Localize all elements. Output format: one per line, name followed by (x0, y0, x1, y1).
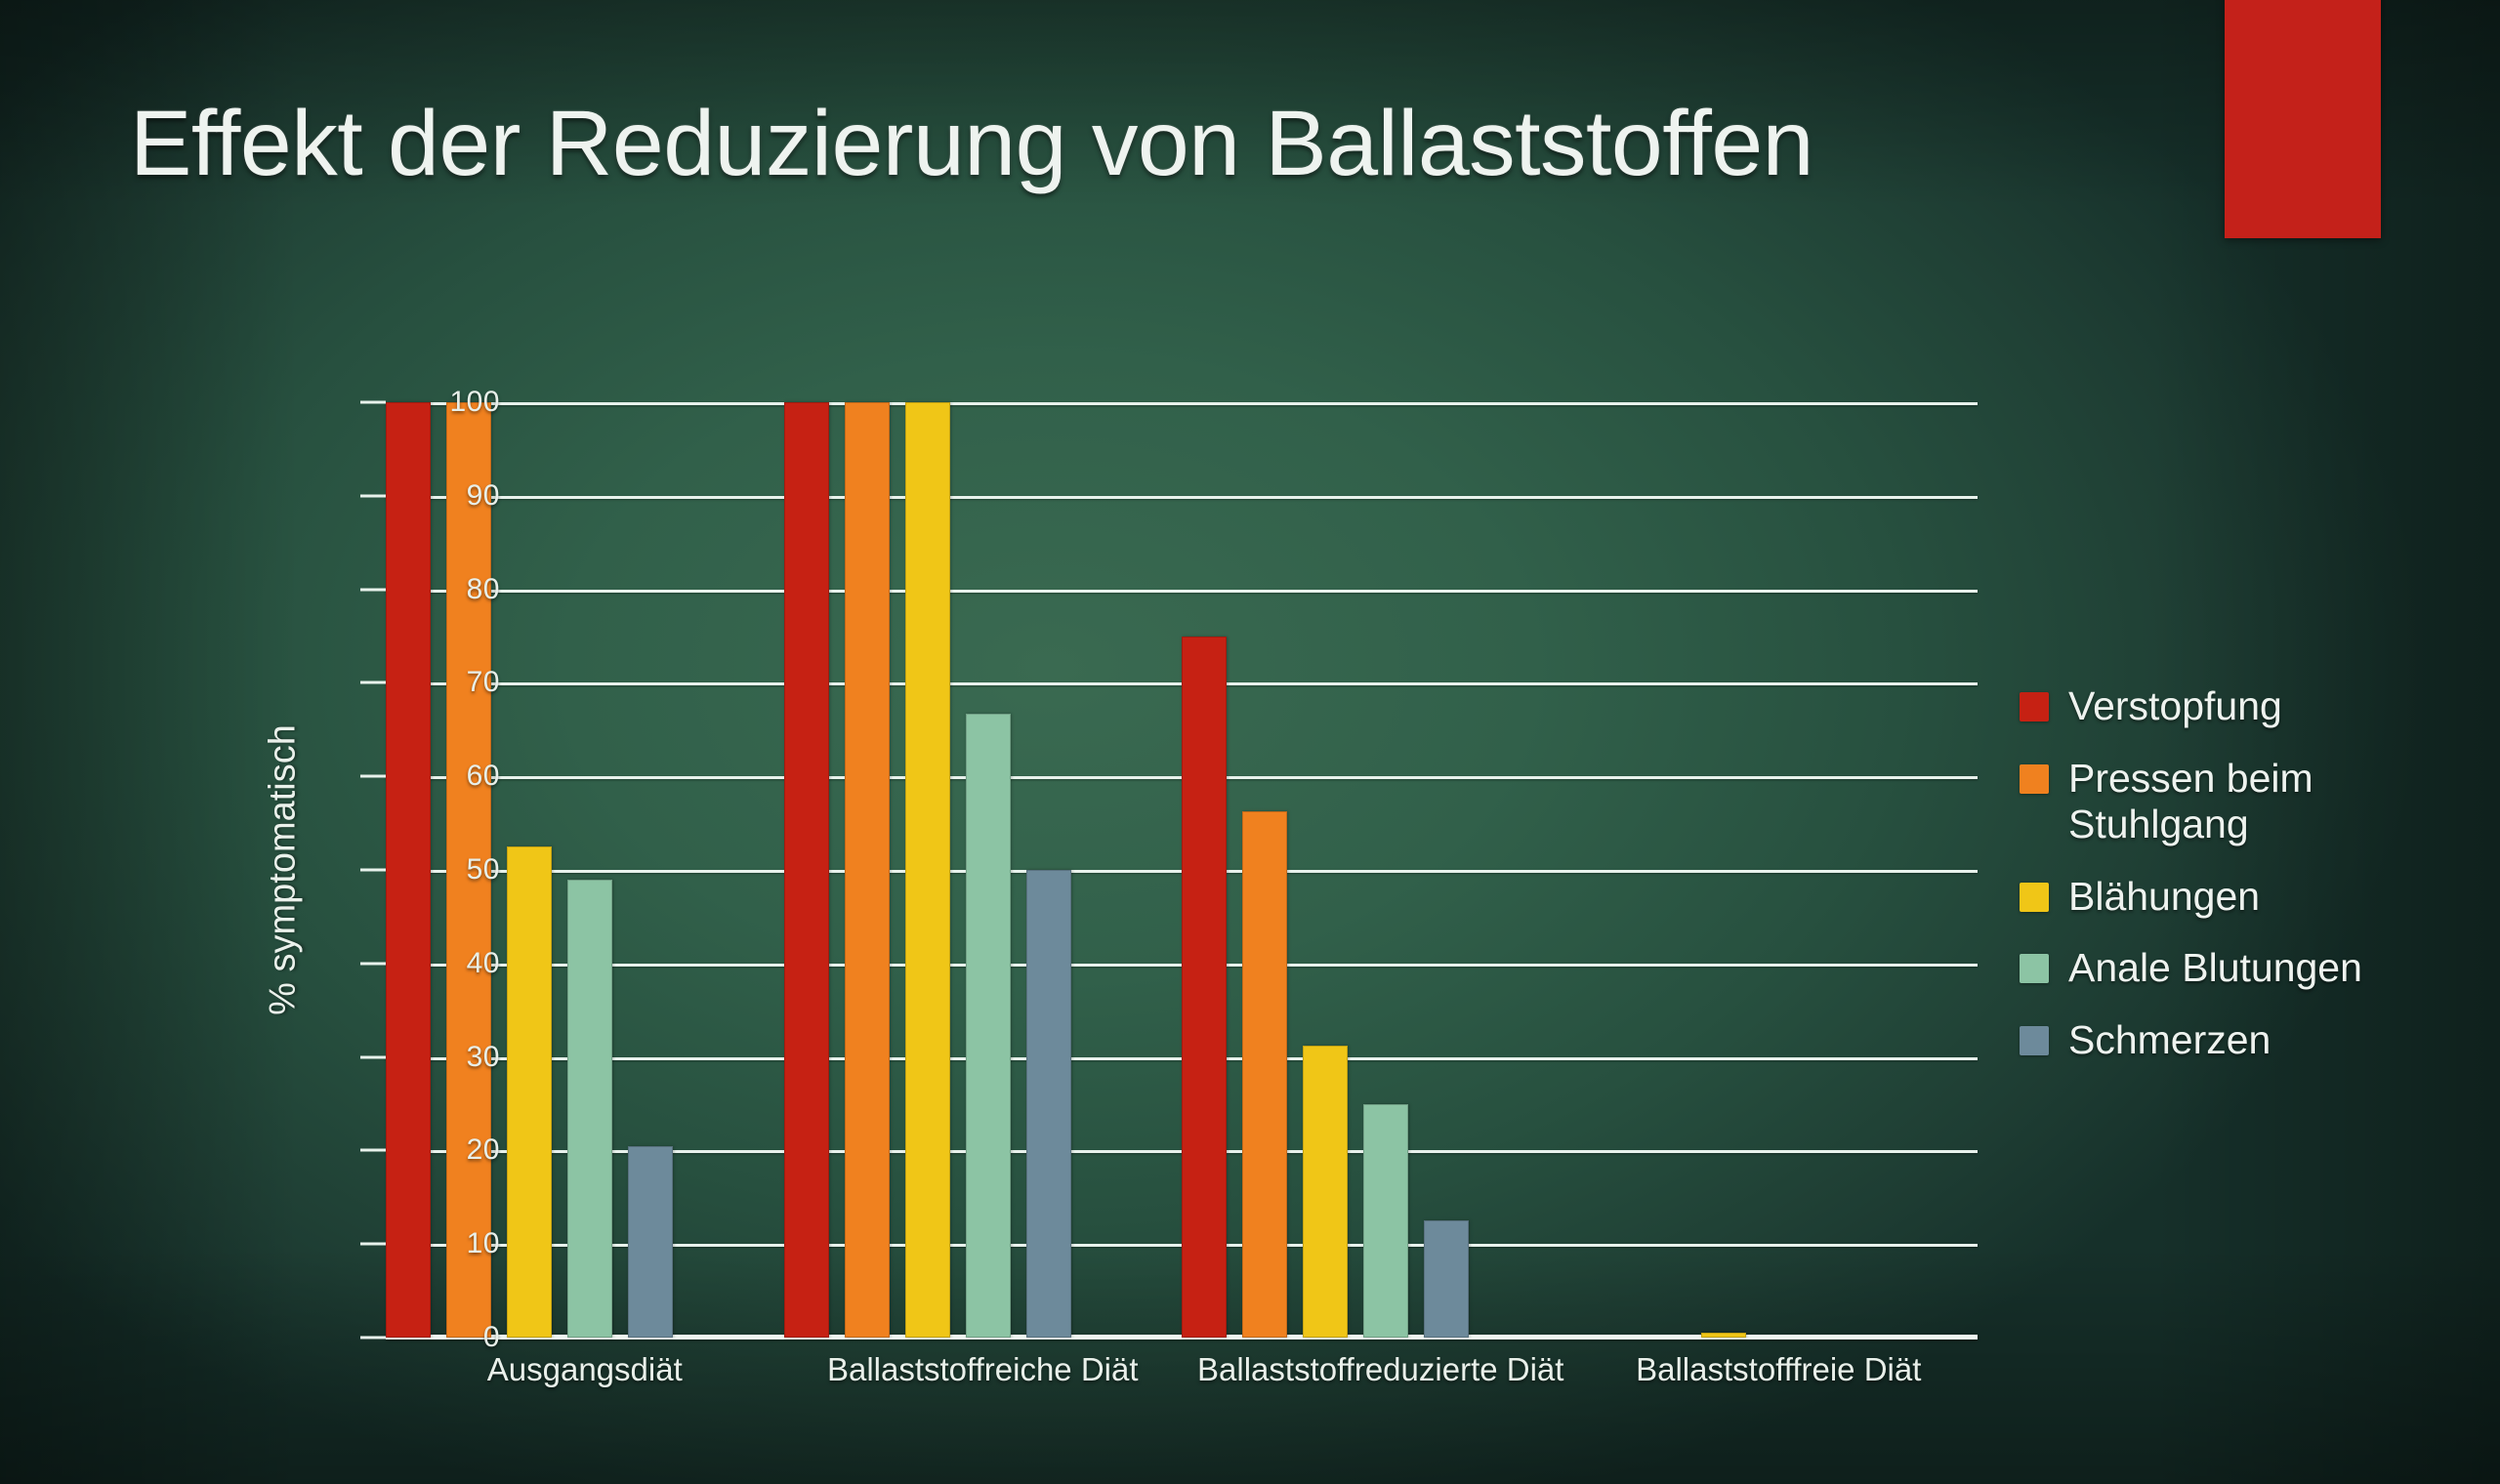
bar[interactable] (567, 880, 612, 1338)
bar[interactable] (1303, 1046, 1348, 1338)
slide-canvas: Effekt der Reduzierung von Ballaststoffe… (0, 0, 2500, 1484)
legend-label: Anale Blutungen (2068, 945, 2362, 992)
y-tick-label: 10 (383, 1227, 500, 1260)
legend-swatch-icon (2020, 1026, 2049, 1055)
legend-item[interactable]: Schmerzen (2020, 1017, 2479, 1064)
y-tick-mark (360, 1243, 386, 1246)
legend-item[interactable]: Anale Blutungen (2020, 945, 2479, 992)
y-tick-label: 50 (383, 853, 500, 886)
y-tick-mark (360, 681, 386, 684)
plot-area: % symptomatisch (386, 402, 1978, 1338)
x-tick-label: Ausgangsdiät (386, 1349, 784, 1466)
bar[interactable] (628, 1146, 673, 1338)
y-axis-title: % symptomatisch (263, 724, 305, 1015)
x-tick-label: Ballaststoffreduzierte Diät (1182, 1349, 1580, 1466)
legend-item[interactable]: Pressen beim Stuhlgang (2020, 756, 2479, 848)
bar-group-bars (1182, 402, 1469, 1338)
legend-label: Schmerzen (2068, 1017, 2271, 1064)
y-tick-mark (360, 401, 386, 404)
bar-group-bars (1580, 402, 1867, 1338)
y-tick-mark (360, 869, 386, 872)
bar-chart: % symptomatisch 0102030405060708090100 A… (0, 0, 2500, 1484)
bar-groups (386, 402, 1978, 1338)
y-tick-label: 90 (383, 479, 500, 513)
bar[interactable] (1242, 811, 1287, 1338)
y-tick-mark (360, 775, 386, 778)
y-tick-mark (360, 588, 386, 591)
y-tick-label: 80 (383, 573, 500, 606)
bar[interactable] (784, 402, 829, 1338)
accent-rectangle (2225, 0, 2381, 238)
bar-group (1182, 402, 1580, 1338)
legend-item[interactable]: Blähungen (2020, 874, 2479, 921)
legend-swatch-icon (2020, 692, 2049, 721)
legend-label: Blähungen (2068, 874, 2260, 921)
y-tick-label: 20 (383, 1134, 500, 1167)
bar[interactable] (1363, 1104, 1408, 1339)
y-tick-mark (360, 1149, 386, 1152)
legend-label: Verstopfung (2068, 683, 2282, 730)
bar-group (784, 402, 1183, 1338)
y-tick-mark (360, 1337, 386, 1340)
y-tick-label: 30 (383, 1041, 500, 1074)
y-tick-label: 40 (383, 947, 500, 980)
page-title: Effekt der Reduzierung von Ballaststoffe… (130, 96, 1813, 193)
y-tick-label: 60 (383, 760, 500, 793)
y-tick-label: 70 (383, 666, 500, 699)
chart-legend: VerstopfungPressen beim StuhlgangBlähung… (2020, 683, 2479, 1089)
bar[interactable] (507, 846, 552, 1338)
y-tick-label: 100 (383, 386, 500, 419)
x-tick-label: Ballaststoffreiche Diät (784, 1349, 1183, 1466)
y-tick-mark (360, 962, 386, 965)
bar[interactable] (1424, 1220, 1469, 1338)
bar[interactable] (1026, 870, 1071, 1338)
legend-swatch-icon (2020, 954, 2049, 983)
x-tick-label: Ballaststofffreie Diät (1580, 1349, 1979, 1466)
bar[interactable] (1182, 637, 1227, 1339)
legend-label: Pressen beim Stuhlgang (2068, 756, 2479, 848)
y-tick-mark (360, 494, 386, 497)
bar[interactable] (905, 402, 950, 1338)
bar[interactable] (966, 714, 1011, 1338)
legend-swatch-icon (2020, 764, 2049, 794)
bar-group-bars (784, 402, 1071, 1338)
legend-item[interactable]: Verstopfung (2020, 683, 2479, 730)
bar[interactable] (845, 402, 890, 1338)
bar-group (1580, 402, 1979, 1338)
legend-swatch-icon (2020, 883, 2049, 912)
y-tick-mark (360, 1055, 386, 1058)
bar[interactable] (1701, 1333, 1746, 1338)
x-axis-labels: AusgangsdiätBallaststoffreiche DiätBalla… (386, 1349, 1978, 1466)
